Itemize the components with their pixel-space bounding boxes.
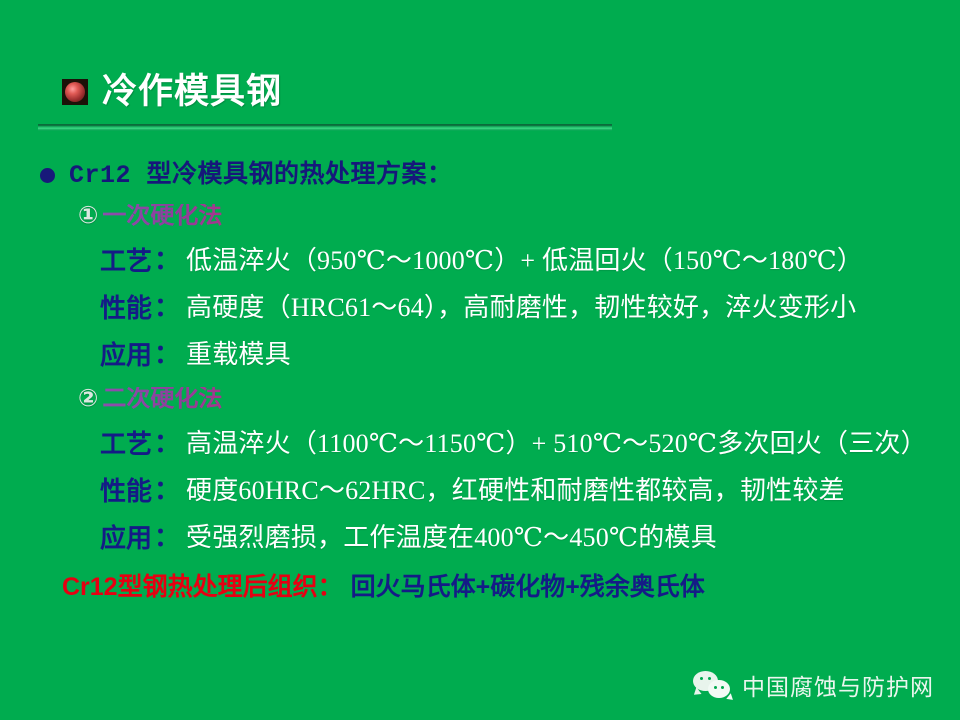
section-number-2: ② xyxy=(78,387,98,411)
detail-row-property-2: 性能 ： 硬度60HRC～62HRC，红硬性和耐磨性都较高，韧性较差 xyxy=(100,467,960,514)
summary-colon: ： xyxy=(318,575,343,600)
detail-label-application-1: 应用 xyxy=(100,342,152,368)
detail-label-application-2: 应用 xyxy=(100,525,152,551)
slide-root: { "slide": { "background_color": "#00AC4… xyxy=(0,0,960,720)
wechat-icon xyxy=(693,669,733,701)
detail-colon-property-2: ： xyxy=(154,478,180,504)
detail-label-property-1: 性能 xyxy=(100,295,152,321)
section-label-1: 一次硬化法 xyxy=(102,204,222,228)
detail-text-craft-2: 高温淬火（1100℃～1150℃）+ 510℃～520℃多次回火（三次） xyxy=(186,431,927,457)
page-title: 冷作模具钢 xyxy=(102,74,282,109)
slide-body: Cr12 型冷模具钢的热处理方案： ① 一次硬化法 工艺 ： 低温淬火（950℃… xyxy=(0,155,960,609)
blue-dot-bullet-icon xyxy=(40,168,55,183)
summary-label: Cr12型钢热处理后组织 xyxy=(62,575,318,600)
detail-colon-craft-1: ： xyxy=(154,248,180,274)
section-label-2: 二次硬化法 xyxy=(102,387,222,411)
summary-value: 回火马氏体+碳化物+残余奥氏体 xyxy=(351,575,705,600)
detail-row-application-2: 应用 ： 受强烈磨损，工作温度在400℃～450℃的模具 xyxy=(100,514,960,561)
detail-text-application-2: 受强烈磨损，工作温度在400℃～450℃的模具 xyxy=(186,525,717,551)
watermark-text: 中国腐蚀与防护网 xyxy=(742,668,934,702)
section-heading-2: ② 二次硬化法 xyxy=(78,378,960,420)
title-divider xyxy=(38,124,612,131)
detail-text-craft-1: 低温淬火（950℃～1000℃）+ 低温回火（150℃～180℃） xyxy=(186,248,863,274)
detail-text-application-1: 重载模具 xyxy=(186,342,291,368)
detail-label-craft-2: 工艺 xyxy=(100,431,152,457)
watermark: 中国腐蚀与防护网 xyxy=(693,668,934,702)
detail-colon-application-1: ： xyxy=(154,342,180,368)
detail-colon-property-1: ： xyxy=(154,295,180,321)
section-heading-1: ① 一次硬化法 xyxy=(78,195,960,237)
detail-label-craft-1: 工艺 xyxy=(100,248,152,274)
detail-text-property-2: 硬度60HRC～62HRC，红硬性和耐磨性都较高，韧性较差 xyxy=(186,478,845,504)
section-number-1: ① xyxy=(78,204,98,228)
detail-text-property-1: 高硬度（HRC61～64），高耐磨性，韧性较好，淬火变形小 xyxy=(186,295,856,321)
main-heading-text: Cr12 型冷模具钢的热处理方案： xyxy=(69,163,453,188)
detail-label-property-2: 性能 xyxy=(100,478,152,504)
slide-header: 冷作模具钢 xyxy=(62,74,282,109)
detail-colon-craft-2: ： xyxy=(154,431,180,457)
detail-row-craft-1: 工艺 ： 低温淬火（950℃～1000℃）+ 低温回火（150℃～180℃） xyxy=(100,237,960,284)
detail-row-craft-2: 工艺 ： 高温淬火（1100℃～1150℃）+ 510℃～520℃多次回火（三次… xyxy=(100,420,960,467)
main-heading-row: Cr12 型冷模具钢的热处理方案： xyxy=(40,155,960,195)
red-gem-bullet-icon xyxy=(62,79,88,105)
detail-row-property-1: 性能 ： 高硬度（HRC61～64），高耐磨性，韧性较好，淬火变形小 xyxy=(100,284,960,331)
detail-row-application-1: 应用 ： 重载模具 xyxy=(100,331,960,378)
detail-colon-application-2: ： xyxy=(154,525,180,551)
summary-row: Cr12型钢热处理后组织 ： 回火马氏体+碳化物+残余奥氏体 xyxy=(62,565,960,609)
